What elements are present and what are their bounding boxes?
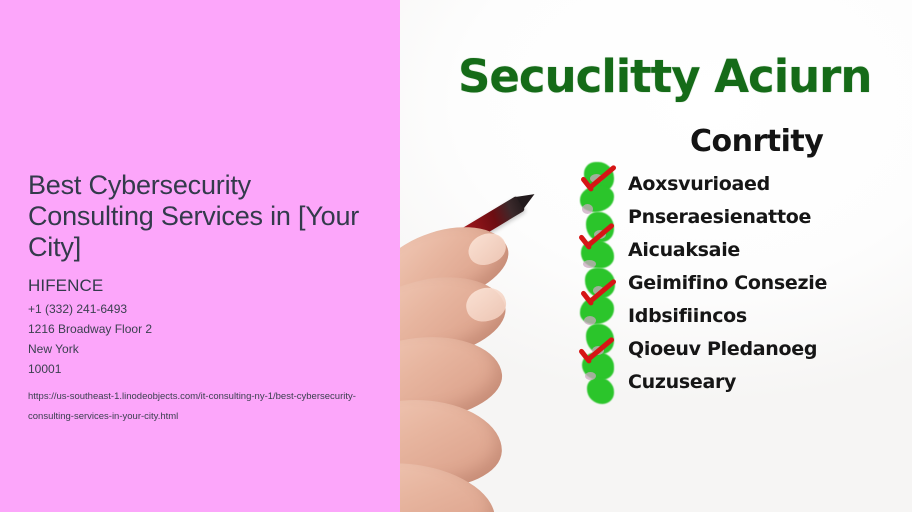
list-item: Aicuaksaie [628, 234, 912, 267]
photo-headline-text: Secuclitty Aciurn [458, 50, 871, 103]
address-zip: 10001 [28, 359, 373, 379]
brand-name: HIFENCE [28, 275, 373, 296]
address-street: 1216 Broadway Floor 2 [28, 319, 373, 339]
photo-subheadline-text: Conrtity [690, 124, 823, 159]
address-city: New York [28, 339, 373, 359]
list-item: Qioeuv Pledanoeg [628, 333, 912, 366]
left-info-panel: Best Cybersecurity Consulting Services i… [0, 0, 400, 512]
list-item: Cuzuseary [628, 366, 912, 399]
page-root: Best Cybersecurity Consulting Services i… [0, 0, 912, 512]
list-item: Geimifino Consezie [628, 267, 912, 300]
checklist: Aoxsvurioaed Pnseraesienattoe Aicuaksaie… [628, 168, 912, 399]
page-url[interactable]: https://us-southeast-1.linodeobjects.com… [28, 387, 358, 427]
list-item: Idbsifiincos [628, 300, 912, 333]
business-info-block: Best Cybersecurity Consulting Services i… [28, 170, 373, 427]
list-item: Pnseraesienattoe [628, 201, 912, 234]
list-item: Aoxsvurioaed [628, 168, 912, 201]
page-title: Best Cybersecurity Consulting Services i… [28, 170, 373, 263]
hand-illustration [400, 232, 620, 512]
pen-tip-icon [516, 188, 538, 209]
phone-number[interactable]: +1 (332) 241-6493 [28, 299, 373, 319]
right-image-panel: Secuclitty Aciurn Conrtity [400, 0, 912, 512]
